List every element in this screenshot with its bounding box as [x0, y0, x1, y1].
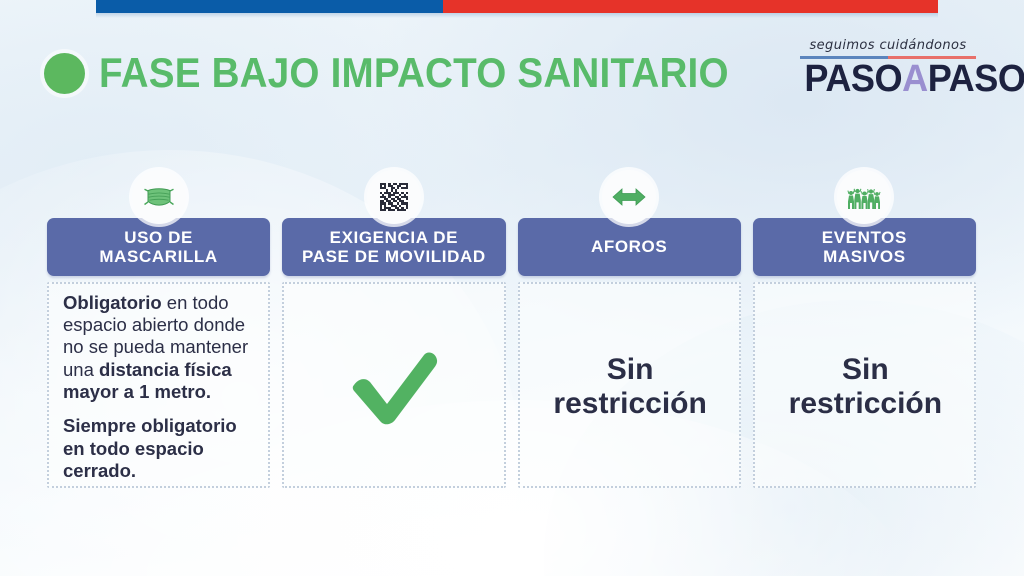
- face-mask-icon: [132, 170, 186, 224]
- slide-canvas: FASE BAJO IMPACTO SANITARIO seguimos cui…: [0, 0, 1024, 576]
- mascarilla-paragraph-1: Obligatorio en todo espacio abierto dond…: [63, 292, 256, 404]
- paso-a-paso-logo: seguimos cuidándonos PASOAPASO: [800, 38, 976, 100]
- column-eventos-masivos: EVENTOSMASIVOS Sinrestricción: [753, 218, 976, 488]
- phase-status-dot-icon: [44, 53, 85, 94]
- header-line-1: EXIGENCIA DE: [330, 228, 458, 247]
- cell-exigencia-de-pase-de-movilidad: [282, 282, 505, 488]
- qr-code-icon: [367, 170, 421, 224]
- chile-flag-bar: [96, 0, 938, 13]
- cell-aforos: Sinrestricción: [518, 282, 741, 488]
- qr-code-grid: [380, 183, 408, 211]
- green-check-icon: [340, 341, 450, 433]
- header-line-2: PASE DE MOVILIDAD: [302, 247, 486, 266]
- page-title: FASE BAJO IMPACTO SANITARIO: [99, 52, 729, 94]
- page-title-row: FASE BAJO IMPACTO SANITARIO: [44, 52, 783, 94]
- header-line-2: MASCARILLA: [99, 247, 217, 266]
- column-header-eventos-masivos: EVENTOSMASIVOS: [753, 218, 976, 276]
- cell-uso-de-mascarilla: Obligatorio en todo espacio abierto dond…: [47, 282, 270, 488]
- column-header-aforos: AFOROS: [518, 218, 741, 276]
- flag-bar-red-segment: [443, 0, 938, 13]
- column-exigencia-de-pase-de-movilidad: EXIGENCIA DEPASE DE MOVILIDAD: [282, 218, 505, 488]
- aforos-value-line-2: restricción: [553, 387, 706, 420]
- logo-wordmark: PASOAPASO: [804, 60, 971, 100]
- double-arrow-icon: [602, 170, 656, 224]
- header-line-1: EVENTOS: [822, 228, 907, 247]
- column-header-uso-de-mascarilla: USO DEMASCARILLA: [47, 218, 270, 276]
- logo-tagline: seguimos cuidándonos: [800, 38, 976, 53]
- flag-bar-blue-segment: [96, 0, 443, 13]
- logo-word-middle-a: A: [902, 58, 928, 100]
- aforos-value-line-1: Sin: [607, 353, 654, 386]
- logo-word-left: PASO: [804, 58, 902, 100]
- header-line-2: MASIVOS: [823, 247, 906, 266]
- measures-table: USO DEMASCARILLA Obligatorio en todo esp…: [47, 218, 976, 488]
- mascarilla-run-4: Siempre obligatorio en todo espacio cerr…: [63, 415, 237, 481]
- mascarilla-run-1: Obligatorio: [63, 292, 162, 313]
- eventos-value-line-1: Sin: [842, 353, 889, 386]
- eventos-value-line-2: restricción: [789, 387, 942, 420]
- column-aforos: AFOROS Sinrestricción: [518, 218, 741, 488]
- crowd-icon: [837, 170, 891, 224]
- aforos-value: Sinrestricción: [553, 353, 706, 421]
- logo-word-right: PASO: [928, 58, 1024, 100]
- cell-eventos-masivos: Sinrestricción: [753, 282, 976, 488]
- column-header-exigencia-de-pase-de-movilidad: EXIGENCIA DEPASE DE MOVILIDAD: [282, 218, 505, 276]
- eventos-masivos-value: Sinrestricción: [789, 353, 942, 421]
- header-line-1: USO DE: [124, 228, 193, 247]
- mascarilla-paragraph-2: Siempre obligatorio en todo espacio cerr…: [63, 415, 256, 482]
- column-uso-de-mascarilla: USO DEMASCARILLA Obligatorio en todo esp…: [47, 218, 270, 488]
- header-line-1: AFOROS: [591, 237, 667, 256]
